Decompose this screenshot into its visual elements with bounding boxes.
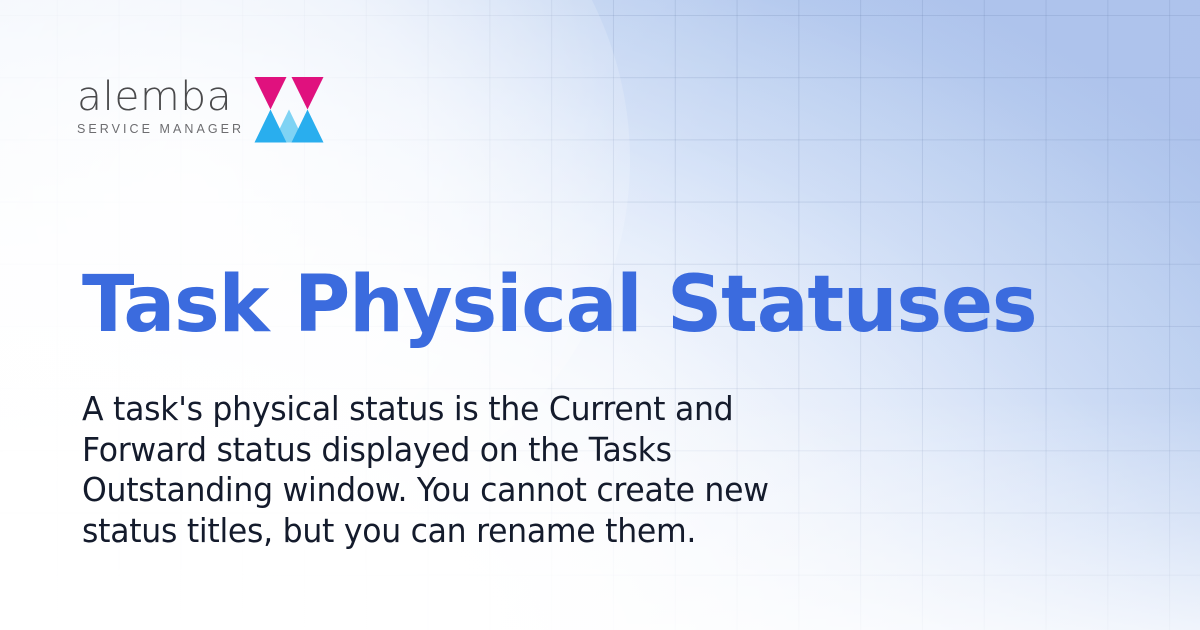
description-line: Forward status displayed on the Tasks <box>82 430 789 471</box>
page-description: A task's physical status is the Current … <box>82 389 822 551</box>
page-title: Task Physical Statuses <box>82 262 1036 348</box>
logo-triangle-top-right <box>292 77 324 110</box>
description-line: status titles, but you can rename them. <box>82 511 789 552</box>
brand-logo: alemba SERVICE MANAGER <box>77 74 324 144</box>
brand-tagline: SERVICE MANAGER <box>77 123 244 136</box>
logo-triangle-top-left <box>255 77 287 110</box>
brand-logo-text: alemba SERVICE MANAGER <box>77 74 244 136</box>
description-line: Outstanding window. You cannot create ne… <box>82 470 789 511</box>
social-card: alemba SERVICE MANAGER Task Physical Sta… <box>0 0 1200 630</box>
brand-wordmark: alemba <box>77 77 232 117</box>
description-line: A task's physical status is the Current … <box>82 389 789 430</box>
alemba-x-logo-icon <box>254 76 324 144</box>
